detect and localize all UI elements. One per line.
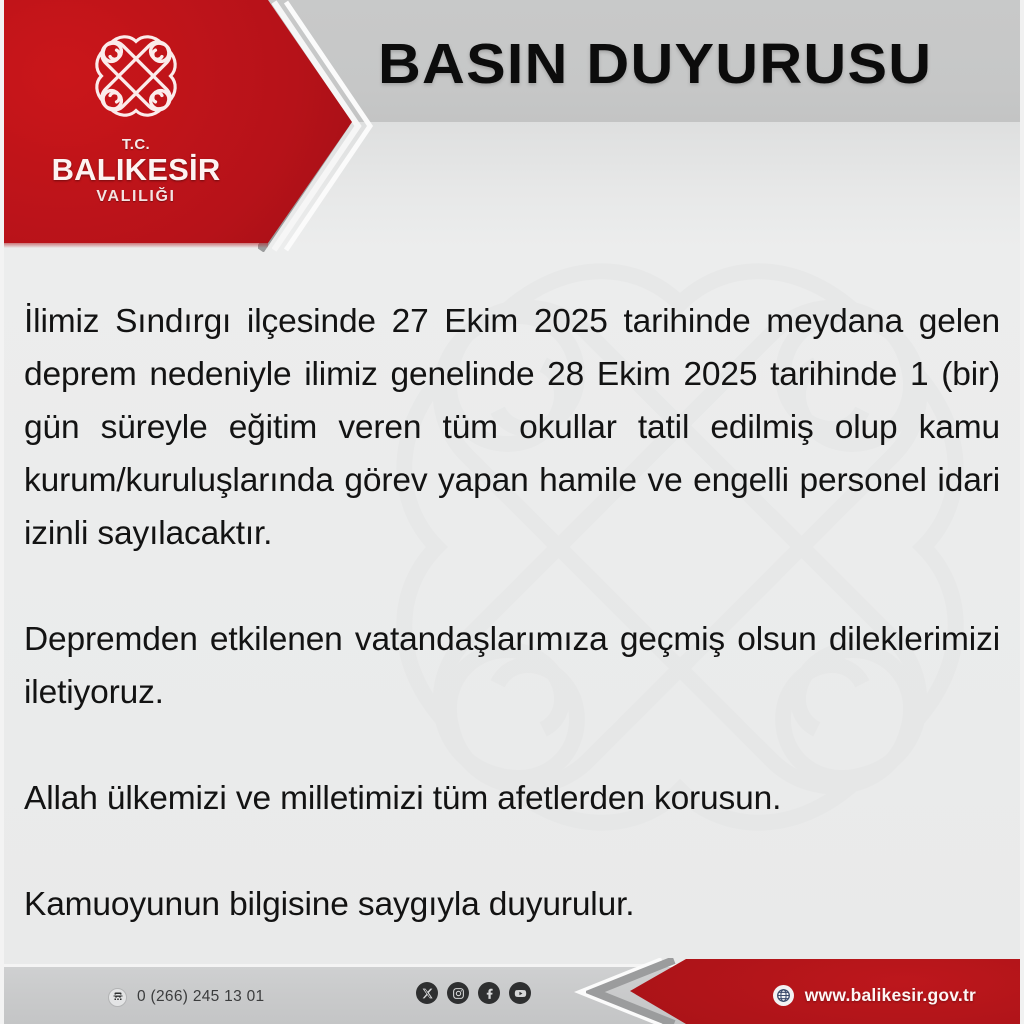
paragraph-2: Depremden etkilenen vatandaşlarımıza geç… — [24, 613, 1000, 719]
poster-header: T.C. BALIKESİR VALILIĞI BASIN DUYURUSU — [0, 0, 1024, 247]
website-url-text: www.balikesir.gov.tr — [805, 985, 976, 1006]
phone-number-text: 0 (266) 245 13 01 — [137, 988, 264, 1006]
left-page-edge — [0, 0, 4, 1024]
globe-icon — [773, 985, 794, 1006]
page-title: BASIN DUYURUSU — [378, 31, 932, 97]
youtube-icon[interactable] — [509, 982, 531, 1004]
x-twitter-icon[interactable] — [416, 982, 438, 1004]
website-link[interactable]: www.balikesir.gov.tr — [773, 985, 976, 1006]
right-page-edge — [1020, 0, 1024, 1024]
instagram-icon[interactable] — [447, 982, 469, 1004]
poster-footer: 0 (266) 245 13 01 — [0, 964, 1024, 1024]
paragraph-1: İlimiz Sındırgı ilçesinde 27 Ekim 2025 t… — [24, 295, 1000, 560]
social-links — [416, 982, 531, 1004]
paragraph-3: Allah ülkemizi ve milletimizi tüm afetle… — [24, 772, 1000, 825]
contact-phone[interactable]: 0 (266) 245 13 01 — [108, 984, 264, 1010]
press-release-poster: T.C. BALIKESİR VALILIĞI BASIN DUYURUSU — [0, 0, 1024, 1024]
balikesir-governorship-logo: T.C. BALIKESİR VALILIĞI — [0, 14, 272, 229]
header-red-shadow-sliver — [0, 243, 268, 248]
telephone-icon — [108, 988, 127, 1007]
logo-institution-label: VALILIĞI — [96, 188, 175, 206]
facebook-icon[interactable] — [478, 982, 500, 1004]
logo-city-label: BALIKESİR — [52, 154, 221, 186]
announcement-body: İlimiz Sındırgı ilçesinde 27 Ekim 2025 t… — [24, 295, 1000, 931]
logo-tc-label: T.C. — [122, 136, 150, 153]
paragraph-4: Kamuoyunun bilgisine saygıyla duyurulur. — [24, 878, 1000, 931]
balikesir-seljuk-knot-emblem-icon — [80, 22, 192, 130]
